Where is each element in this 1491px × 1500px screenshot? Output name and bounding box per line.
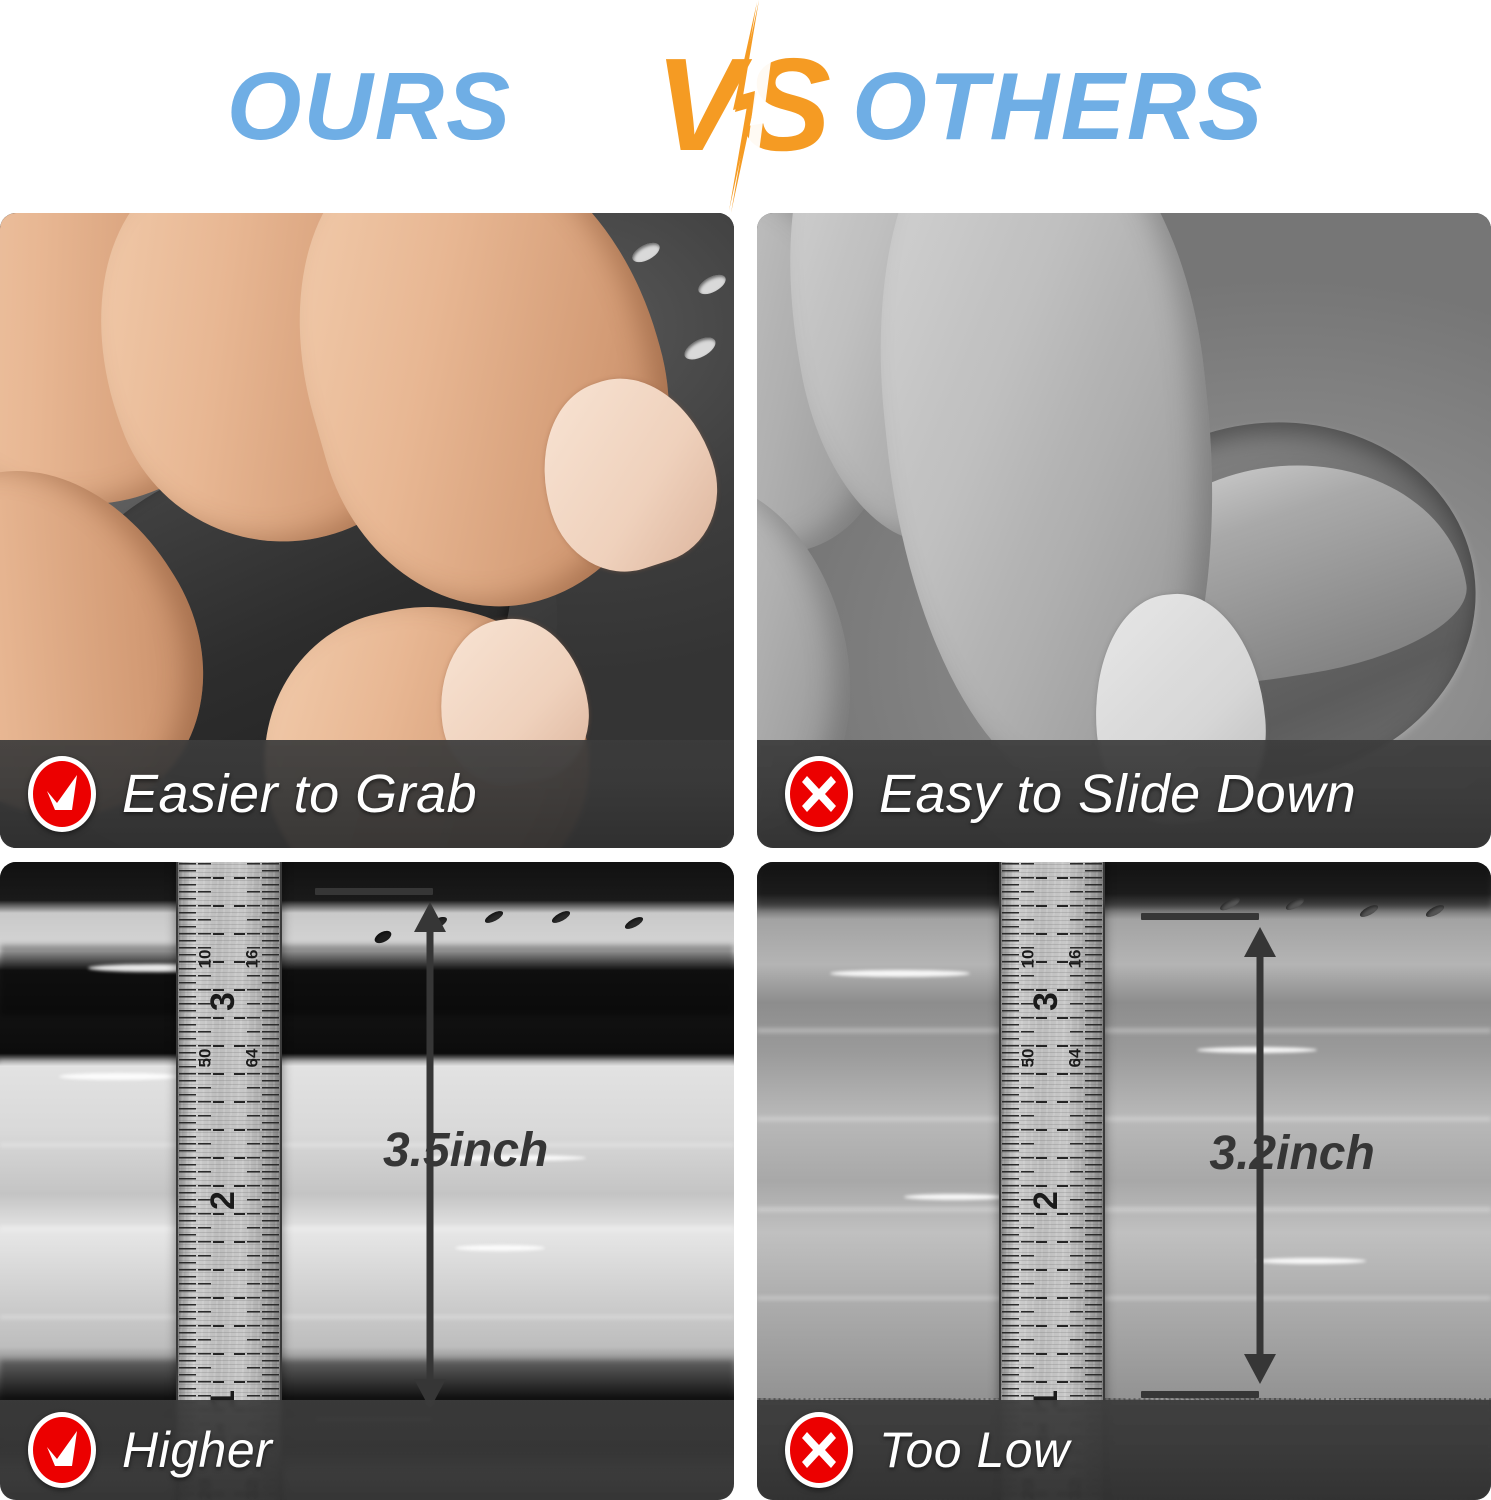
measure-value-left: 3.5inch [383,1123,548,1178]
panel-top-left: Easier to Grab [0,213,734,848]
cross-icon [785,1412,853,1488]
panel-bottom-right: 3 2 1 INCH 10 50 20 16 64 32 3.2inch [757,862,1491,1500]
caption-bar-top-left: Easier to Grab [0,740,734,848]
ruler-inch-2: 2 [204,1191,243,1210]
cross-icon [785,756,853,832]
header-ours-label: OURS [227,59,512,155]
measure-value-right: 3.2inch [1209,1126,1374,1181]
measure-cap-top [1141,913,1259,920]
ruler-frac-16: 16 [1066,949,1086,968]
check-icon [28,756,96,832]
ruler-metric-10: 10 [1019,949,1039,968]
caption-label-top-left: Easier to Grab [122,763,477,825]
ruler-frac-64: 64 [1066,1049,1086,1068]
caption-label-bottom-right: Too Low [879,1421,1070,1479]
ruler-metric-10: 10 [196,949,216,968]
ruler-inch-3: 3 [204,992,243,1011]
measure-cap-top [315,888,433,895]
vs-badge: VS [631,0,861,213]
caption-bar-top-right: Easy to Slide Down [757,740,1491,848]
ruler-frac-64: 64 [243,1049,263,1068]
ruler-frac-16: 16 [243,949,263,968]
measure-arrow-down [1244,1354,1276,1384]
caption-label-bottom-left: Higher [122,1421,272,1479]
panel-bottom-left: 3 2 1 INCH 10 50 20 16 64 32 3.5inch [0,862,734,1500]
caption-bar-bottom-right: Too Low [757,1400,1491,1500]
check-icon [28,1412,96,1488]
ruler-inch-2: 2 [1027,1191,1066,1210]
comparison-header: OURS VS OTHERS [0,0,1491,213]
panel-top-right: Easy to Slide Down [757,213,1491,848]
ruler-metric-50: 50 [196,1049,216,1068]
comparison-grid: Easier to Grab Easy to Slide Down [0,213,1491,1500]
measurement-annotation-left: 3.5inch [345,888,515,1424]
ruler-inch-3: 3 [1027,992,1066,1011]
caption-label-top-right: Easy to Slide Down [879,763,1356,825]
caption-bar-bottom-left: Higher [0,1400,734,1500]
ruler-metric-50: 50 [1019,1049,1039,1068]
measure-cap-bottom [1141,1391,1259,1398]
measurement-annotation-right: 3.2inch [1175,913,1345,1398]
header-others-label: OTHERS [852,59,1264,155]
